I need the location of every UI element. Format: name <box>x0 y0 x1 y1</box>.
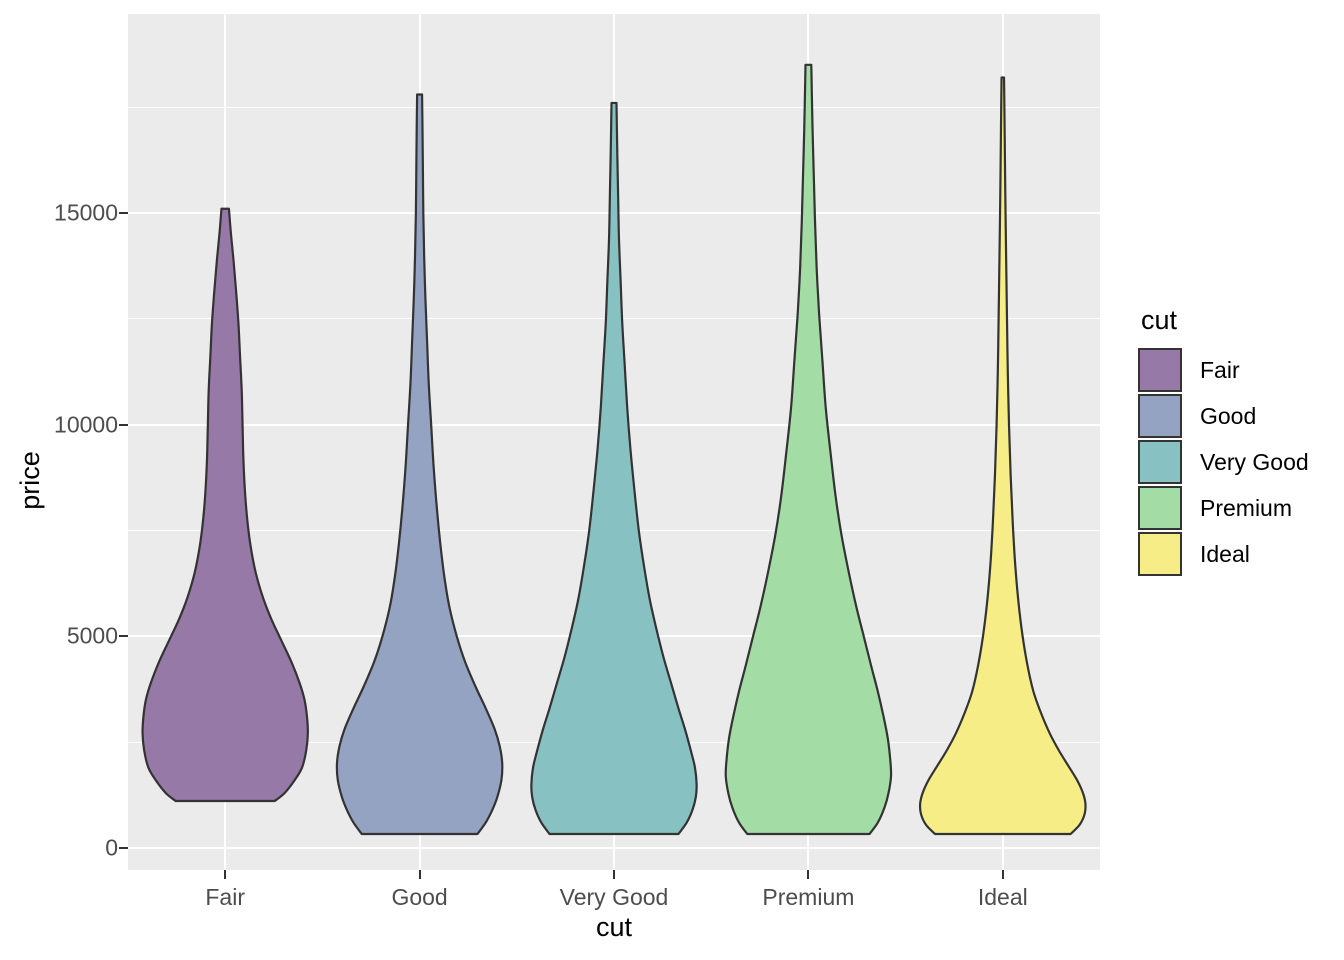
legend-item-fair[interactable]: Fair <box>1138 347 1338 393</box>
legend-label: Good <box>1200 403 1256 430</box>
legend-swatch-icon <box>1138 348 1182 392</box>
legend-item-ideal[interactable]: Ideal <box>1138 531 1338 577</box>
x-tick-mark <box>807 870 809 879</box>
x-tick-label-ideal: Ideal <box>978 884 1028 911</box>
plot-panel <box>128 14 1100 870</box>
legend: cut FairGoodVery GoodPremiumIdeal <box>1138 305 1338 577</box>
y-tick-label: 0 <box>105 835 118 862</box>
violin-good <box>337 94 502 834</box>
x-tick-label-fair: Fair <box>205 884 245 911</box>
legend-label: Ideal <box>1200 541 1250 568</box>
legend-swatch-icon <box>1138 486 1182 530</box>
x-tick-mark <box>419 870 421 879</box>
y-axis-title-text: price <box>15 451 46 510</box>
chart-root: price 050001000015000 FairGoodVery GoodP… <box>0 0 1344 960</box>
legend-label: Premium <box>1200 495 1292 522</box>
legend-swatch-icon <box>1138 532 1182 576</box>
x-axis-title: cut <box>128 912 1100 943</box>
violin-layer <box>128 14 1100 870</box>
legend-title: cut <box>1141 305 1338 336</box>
violin-very-good <box>531 103 696 834</box>
x-tick-mark <box>1002 870 1004 879</box>
y-tick-mark <box>119 424 128 426</box>
legend-swatch-icon <box>1138 440 1182 484</box>
x-tick-label-good: Good <box>391 884 447 911</box>
violin-premium <box>726 65 891 834</box>
legend-item-premium[interactable]: Premium <box>1138 485 1338 531</box>
x-tick-mark <box>224 870 226 879</box>
y-tick-label: 10000 <box>54 411 118 438</box>
legend-item-very-good[interactable]: Very Good <box>1138 439 1338 485</box>
legend-items: FairGoodVery GoodPremiumIdeal <box>1138 347 1338 577</box>
violin-ideal <box>920 78 1085 835</box>
y-tick-label: 15000 <box>54 200 118 227</box>
y-tick-mark <box>119 847 128 849</box>
x-tick-mark <box>613 870 615 879</box>
legend-label: Very Good <box>1200 449 1309 476</box>
x-tick-label-very-good: Very Good <box>560 884 669 911</box>
legend-swatch-icon <box>1138 394 1182 438</box>
y-axis-title: price <box>10 0 50 960</box>
violin-fair <box>143 209 308 801</box>
y-tick-mark <box>119 212 128 214</box>
x-tick-label-premium: Premium <box>762 884 854 911</box>
legend-label: Fair <box>1200 357 1240 384</box>
y-tick-label: 5000 <box>67 623 118 650</box>
legend-item-good[interactable]: Good <box>1138 393 1338 439</box>
y-tick-mark <box>119 635 128 637</box>
